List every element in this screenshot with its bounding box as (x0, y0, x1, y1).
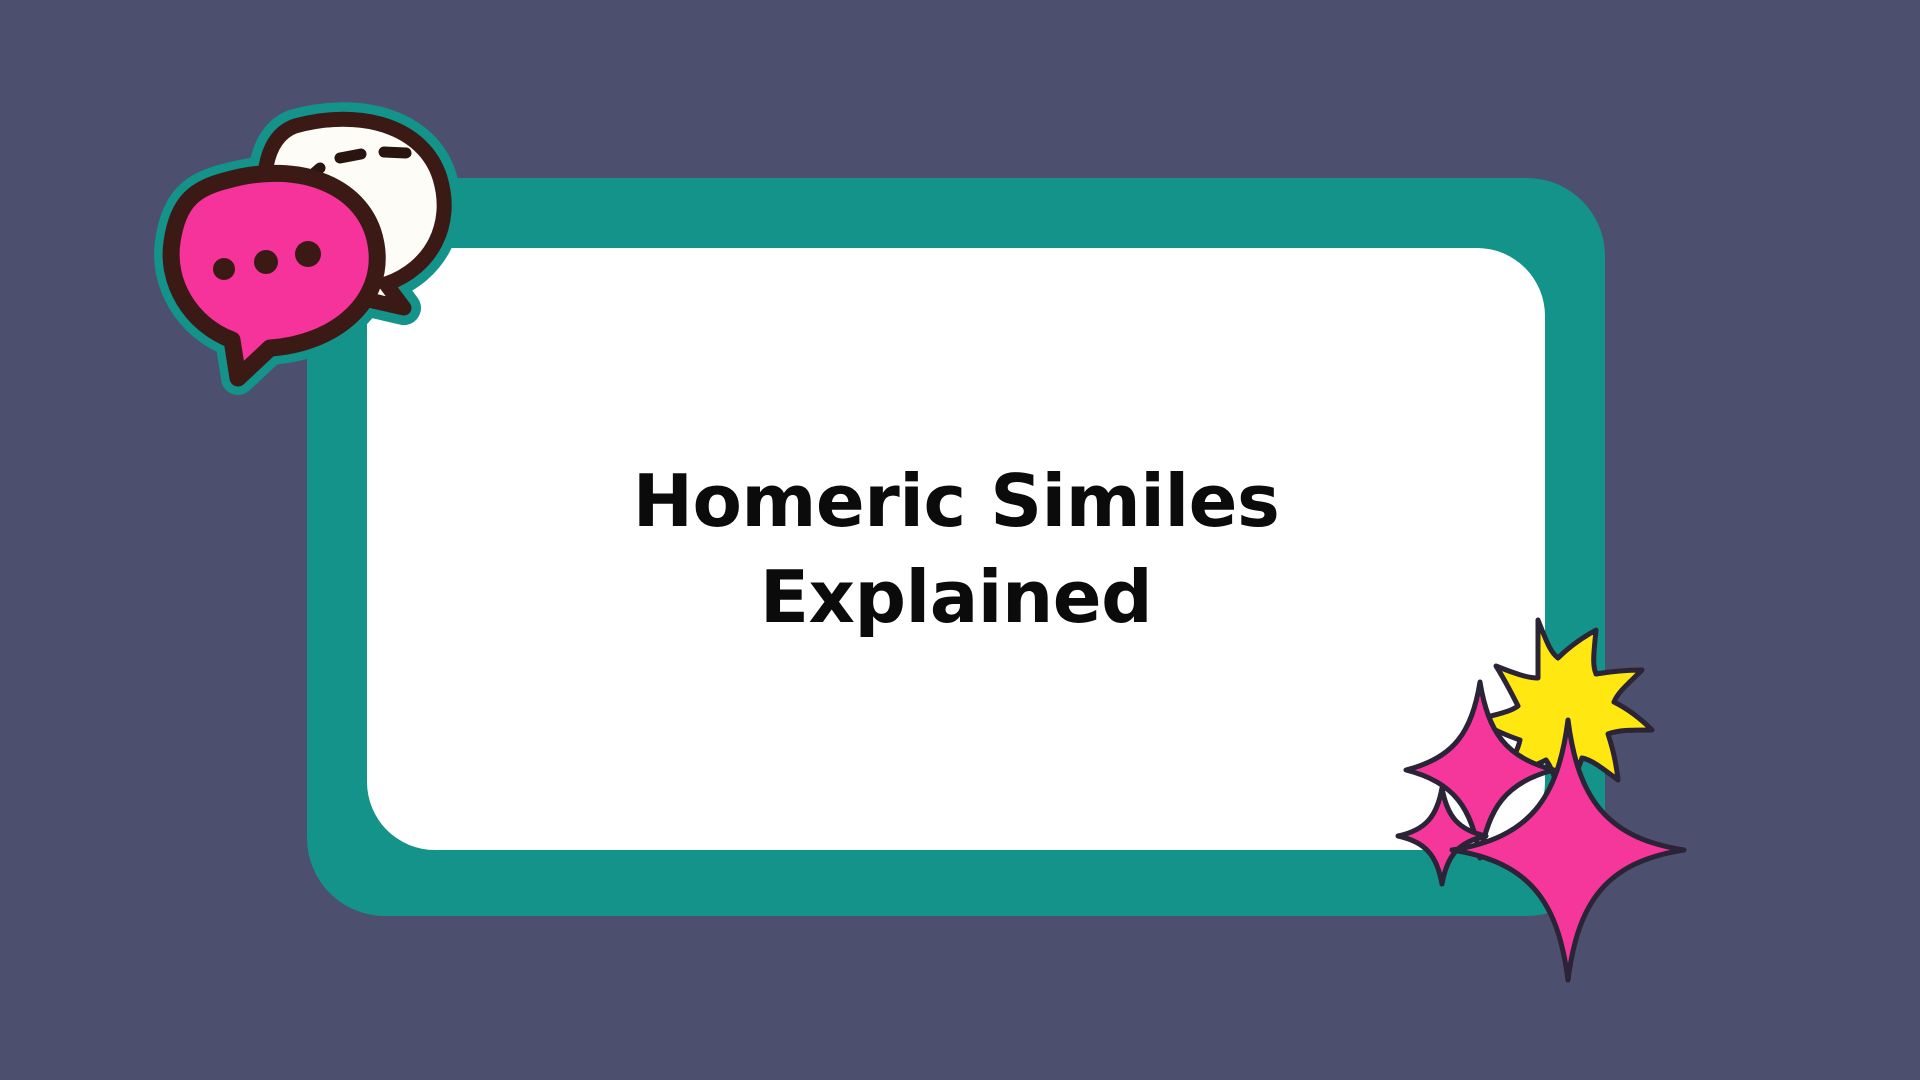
white-content-card (367, 248, 1545, 850)
slide-canvas: Homeric Similes Explained (0, 0, 1920, 1080)
pink-bubble-dots (213, 241, 321, 280)
